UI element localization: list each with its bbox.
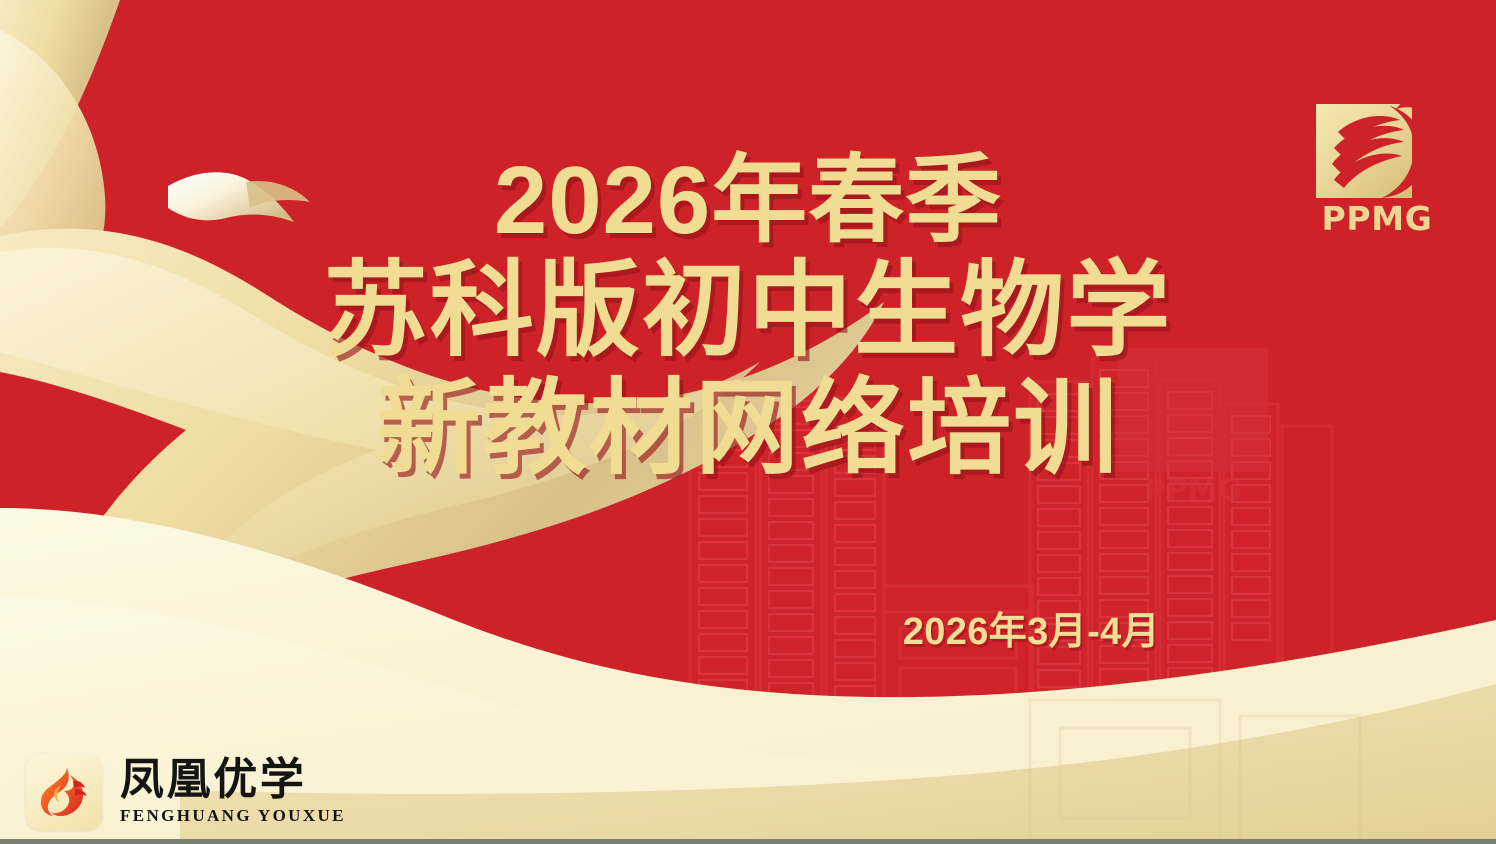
brand-name-cn: 凤凰优学 [120, 758, 346, 803]
phoenix-flame-icon [26, 754, 102, 830]
fenghuang-youxue-logo: 凤凰优学 FENGHUANG YOUXUE [26, 754, 346, 830]
brand-wordmark: 凤凰优学 FENGHUANG YOUXUE [120, 758, 346, 826]
title-slide: PPMG [0, 0, 1496, 844]
brand-name-en: FENGHUANG YOUXUE [120, 807, 346, 826]
bottom-strip [0, 839, 1496, 844]
ppmg-wordmark: PPMG [1312, 202, 1442, 235]
background-artwork: PPMG [0, 0, 1496, 844]
ppmg-logo: PPMG [1312, 92, 1442, 242]
ppmg-phoenix-globe-icon [1312, 92, 1442, 200]
